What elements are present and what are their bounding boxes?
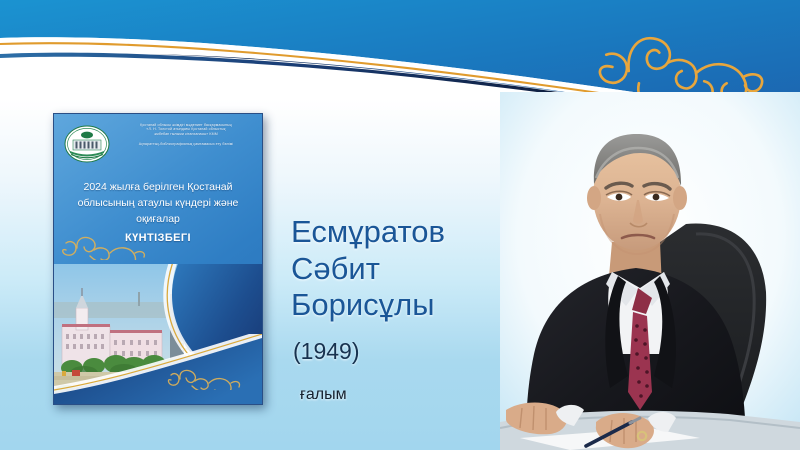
- book-org-header: Қостанай облысы әкімдігі мәдениет басқар…: [116, 123, 256, 147]
- person-birth-year: (1949): [293, 338, 359, 365]
- book-cover: Қостанай облысы әкімдігі мәдениет басқар…: [53, 113, 263, 405]
- book-title-line-1: 2024 жылға берілген: [83, 181, 184, 193]
- slide-canvas: Қостанай облысы әкімдігі мәдениет басқар…: [0, 0, 800, 450]
- person-portrait: [500, 92, 800, 450]
- book-dept-line: Ақпараттық-библиографиялық қамтамасыз ет…: [116, 142, 256, 146]
- kazakh-ornament-book-bottom-icon: [166, 366, 256, 390]
- book-org-line-3: әмбебап ғылыми кітапханасы» КММ: [116, 132, 256, 136]
- library-emblem-icon: [63, 120, 111, 168]
- book-title-line-3: атаулы күндері және оқиғалар: [136, 197, 238, 225]
- kazakh-ornament-book-top-icon: [60, 234, 170, 260]
- person-role: ғалым: [300, 386, 347, 404]
